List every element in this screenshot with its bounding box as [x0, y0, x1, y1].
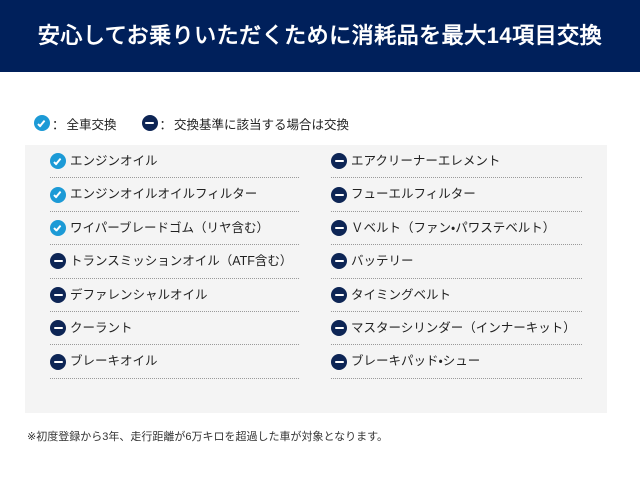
- minus-circle-icon: [331, 153, 347, 169]
- check-circle-icon: [50, 153, 66, 169]
- legend-label: 全車交換: [67, 114, 117, 133]
- list-item: タイミングベルト: [331, 279, 582, 312]
- minus-circle-icon: [50, 287, 66, 303]
- list-item: マスターシリンダー（インナーキット）: [331, 312, 582, 345]
- legend-separator: ：: [160, 114, 173, 133]
- check-circle-icon: [50, 187, 66, 203]
- list-item-label: マスターシリンダー（インナーキット）: [351, 322, 576, 335]
- list-item-label: ワイパーブレードゴム（リヤ含む）: [70, 222, 269, 235]
- list-item: フューエルフィルター: [331, 178, 582, 211]
- list-item-label: エンジンオイルオイルフィルター: [70, 188, 257, 201]
- check-circle-icon: [34, 115, 50, 131]
- list-item: エアクリーナーエレメント: [331, 145, 582, 178]
- list-item-label: ブレーキオイル: [70, 355, 158, 368]
- list-item-label: バッテリー: [351, 255, 414, 268]
- minus-circle-icon: [331, 320, 347, 336]
- items-column-right: エアクリーナーエレメント フューエルフィルター Ｖベルト（ファン・パワステベルト…: [316, 145, 607, 413]
- page-title: 安心してお乗りいただくために消耗品を最大14項目交換: [38, 25, 602, 47]
- minus-circle-icon: [50, 354, 66, 370]
- list-item-label: エンジンオイル: [70, 155, 158, 168]
- list-item-label: Ｖベルト（ファン・パワステベルト）: [351, 222, 555, 235]
- minus-circle-icon: [50, 253, 66, 269]
- list-item: ブレーキパッド・シュー: [331, 345, 582, 378]
- minus-circle-icon: [331, 287, 347, 303]
- minus-circle-icon: [331, 354, 347, 370]
- list-item: エンジンオイル: [50, 145, 299, 178]
- header-banner: 安心してお乗りいただくために消耗品を最大14項目交換: [0, 0, 640, 72]
- legend-entry-conditional: ： 交換基準に該当する場合は交換: [142, 114, 350, 133]
- minus-circle-icon: [331, 253, 347, 269]
- items-columns: エンジンオイル エンジンオイルオイルフィルター ワイパーブレードゴム（リヤ含む）…: [25, 145, 607, 413]
- list-item-label: トランスミッションオイル（ATF含む）: [70, 255, 292, 268]
- list-item: エンジンオイルオイルフィルター: [50, 178, 299, 211]
- check-circle-icon: [50, 220, 66, 236]
- items-column-left: エンジンオイル エンジンオイルオイルフィルター ワイパーブレードゴム（リヤ含む）…: [25, 145, 316, 413]
- list-item-label: タイミングベルト: [351, 289, 451, 302]
- list-item-label: エアクリーナーエレメント: [351, 155, 500, 168]
- list-item-label: デファレンシャルオイル: [70, 289, 208, 302]
- legend-entry-all-vehicles: ： 全車交換: [34, 114, 117, 133]
- legend-label: 交換基準に該当する場合は交換: [174, 114, 349, 133]
- footnote: ※初度登録から3年、走行距離が6万キロを超過した車が対象となります。: [27, 428, 388, 444]
- list-item: ブレーキオイル: [50, 345, 299, 378]
- legend-separator: ：: [52, 114, 65, 133]
- list-item: ワイパーブレードゴム（リヤ含む）: [50, 212, 299, 245]
- minus-circle-icon: [142, 115, 158, 131]
- list-item-label: クーラント: [70, 322, 133, 335]
- list-item: バッテリー: [331, 245, 582, 278]
- minus-circle-icon: [50, 320, 66, 336]
- list-item-label: フューエルフィルター: [351, 188, 476, 201]
- list-item: デファレンシャルオイル: [50, 279, 299, 312]
- list-item: トランスミッションオイル（ATF含む）: [50, 245, 299, 278]
- list-item: Ｖベルト（ファン・パワステベルト）: [331, 212, 582, 245]
- minus-circle-icon: [331, 220, 347, 236]
- list-item-label: ブレーキパッド・シュー: [351, 355, 480, 368]
- list-item: クーラント: [50, 312, 299, 345]
- replacement-items-panel: エンジンオイル エンジンオイルオイルフィルター ワイパーブレードゴム（リヤ含む）…: [25, 145, 607, 413]
- legend: ： 全車交換 ： 交換基準に該当する場合は交換: [34, 112, 349, 134]
- minus-circle-icon: [331, 187, 347, 203]
